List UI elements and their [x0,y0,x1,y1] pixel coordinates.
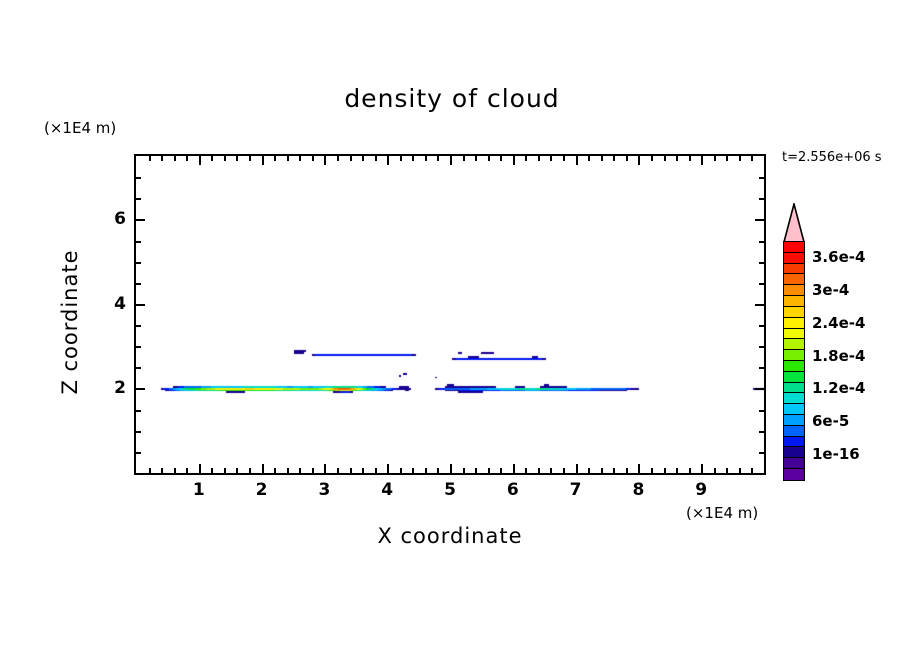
colorbar-band [784,264,804,275]
colorbar-band [784,274,804,285]
colorbar-band [784,318,804,329]
x-tick-label: 2 [256,480,268,500]
colorbar-band [784,296,804,307]
colorbar-band [784,329,804,340]
x-tick-label: 3 [318,480,330,500]
tick-mark [412,156,414,161]
tick-mark [513,156,515,165]
tick-mark [174,156,176,161]
tick-mark [714,156,716,161]
colorbar-band [784,469,804,480]
y-axis-title: Z coordinate [58,222,82,422]
tick-mark [236,156,238,161]
tick-mark [759,241,764,243]
tick-mark [651,156,653,161]
tick-mark [701,156,703,165]
tick-mark [375,156,377,161]
tick-mark [588,468,590,473]
tick-mark [538,156,540,161]
tick-mark [136,219,145,221]
colorbar-band [784,372,804,383]
tick-mark [651,468,653,473]
tick-mark [312,156,314,161]
tick-mark [463,156,465,161]
tick-mark [224,468,226,473]
tick-mark [701,464,703,473]
tick-mark [324,156,326,165]
tick-mark [759,262,764,264]
tick-mark [613,156,615,161]
tick-mark [563,156,565,161]
tick-mark [312,468,314,473]
tick-mark [149,156,151,161]
tick-mark [759,431,764,433]
colorbar-band [784,253,804,264]
tick-mark [425,468,427,473]
tick-mark [726,156,728,161]
y-axis-units-label: (×1E4 m) [44,119,116,137]
tick-mark [755,304,764,306]
tick-mark [362,156,364,161]
tick-mark [689,468,691,473]
tick-mark [475,468,477,473]
page-title: density of cloud [0,84,904,113]
tick-mark [638,464,640,473]
tick-mark [136,410,141,412]
tick-mark [450,156,452,165]
colorbar-band [784,383,804,394]
plot-area [134,154,766,475]
tick-mark [412,468,414,473]
tick-mark [714,468,716,473]
tick-mark [337,468,339,473]
tick-mark [488,468,490,473]
tick-mark [186,468,188,473]
tick-mark [186,156,188,161]
tick-mark [488,156,490,161]
tick-mark [739,468,741,473]
tick-mark [299,156,301,161]
tick-mark [475,156,477,161]
tick-mark [350,468,352,473]
y-tick-label: 6 [102,209,126,229]
colorbar-band [784,437,804,448]
tick-mark [525,468,527,473]
tick-mark [400,156,402,161]
tick-mark [588,156,590,161]
tick-mark [739,156,741,161]
tick-mark [425,156,427,161]
tick-mark [136,388,145,390]
tick-mark [375,468,377,473]
tick-mark [262,156,264,165]
y-tick-label: 2 [102,378,126,398]
colorbar-tick-label: 3e-4 [812,281,849,299]
tick-mark [676,468,678,473]
tick-mark [538,468,540,473]
tick-mark [463,468,465,473]
tick-mark [601,468,603,473]
tick-mark [274,468,276,473]
colorbar-band [784,447,804,458]
tick-mark [161,156,163,161]
tick-mark [161,468,163,473]
tick-mark [287,468,289,473]
colorbar-band [784,285,804,296]
tick-mark [550,156,552,161]
tick-mark [149,468,151,473]
tick-mark [759,367,764,369]
x-tick-label: 5 [444,480,456,500]
tick-mark [249,156,251,161]
colorbar-band [784,393,804,404]
tick-mark [676,156,678,161]
x-tick-label: 9 [695,480,707,500]
tick-mark [513,464,515,473]
tick-mark [274,156,276,161]
tick-mark [136,325,141,327]
tick-mark [136,262,141,264]
tick-mark [576,156,578,165]
x-tick-label: 8 [632,480,644,500]
tick-mark [299,468,301,473]
tick-mark [136,241,141,243]
tick-mark [601,156,603,161]
x-tick-label: 7 [570,480,582,500]
tick-mark [174,468,176,473]
tick-mark [136,177,141,179]
tick-mark [500,156,502,161]
tick-mark [400,468,402,473]
tick-mark [759,177,764,179]
tick-mark [525,156,527,161]
colorbar-tick-label: 2.4e-4 [812,314,865,332]
colorbar-bands [783,241,805,481]
tick-mark [136,283,141,285]
tick-mark [613,468,615,473]
x-tick-label: 4 [381,480,393,500]
colorbar-band [784,361,804,372]
colorbar-tick-label: 1.8e-4 [812,347,865,365]
tick-mark [224,156,226,161]
tick-mark [759,198,764,200]
tick-mark [759,325,764,327]
tick-mark [136,304,145,306]
tick-mark [324,464,326,473]
tick-mark [136,431,141,433]
tick-mark [387,464,389,473]
tick-mark [437,156,439,161]
tick-mark [751,468,753,473]
tick-mark [211,468,213,473]
tick-mark [550,468,552,473]
y-tick-label: 4 [102,294,126,314]
x-axis-title: X coordinate [134,524,766,548]
tick-mark [136,367,141,369]
tick-mark [262,464,264,473]
time-annotation: t=2.556e+06 s [782,150,882,165]
tick-mark [664,156,666,161]
colorbar-band [784,415,804,426]
colorbar-tick-label: 6e-5 [812,412,849,430]
tick-mark [563,468,565,473]
colorbar-band [784,426,804,437]
tick-mark [136,198,141,200]
tick-mark [236,468,238,473]
tick-mark [664,468,666,473]
colorbar-over-arrow-icon [783,203,805,243]
x-tick-label: 6 [507,480,519,500]
colorbar-band [784,339,804,350]
tick-mark [759,452,764,454]
tick-mark [638,156,640,165]
tick-mark [199,156,201,165]
figure-canvas: density of cloud (×1E4 m) (×1E4 m) t=2.5… [0,0,904,654]
tick-mark [450,464,452,473]
tick-mark [362,468,364,473]
tick-mark [387,156,389,165]
tick-mark [755,219,764,221]
colorbar-tick-label: 3.6e-4 [812,248,865,266]
colorbar [783,203,805,483]
contour-plot-canvas [136,156,764,473]
tick-mark [211,156,213,161]
tick-mark [759,346,764,348]
tick-mark [751,156,753,161]
tick-mark [626,468,628,473]
tick-mark [759,283,764,285]
tick-mark [136,346,141,348]
x-tick-label: 1 [193,480,205,500]
colorbar-band [784,242,804,253]
tick-mark [576,464,578,473]
tick-mark [689,156,691,161]
colorbar-band [784,404,804,415]
colorbar-tick-label: 1.2e-4 [812,379,865,397]
colorbar-band [784,458,804,469]
colorbar-tick-label: 1e-16 [812,445,860,463]
tick-mark [350,156,352,161]
tick-mark [287,156,289,161]
tick-mark [626,156,628,161]
tick-mark [249,468,251,473]
tick-mark [136,452,141,454]
tick-mark [199,464,201,473]
tick-mark [759,410,764,412]
tick-mark [337,156,339,161]
x-axis-units-label: (×1E4 m) [686,504,758,522]
tick-mark [500,468,502,473]
colorbar-band [784,350,804,361]
colorbar-band [784,307,804,318]
tick-mark [726,468,728,473]
tick-mark [755,388,764,390]
tick-mark [437,468,439,473]
